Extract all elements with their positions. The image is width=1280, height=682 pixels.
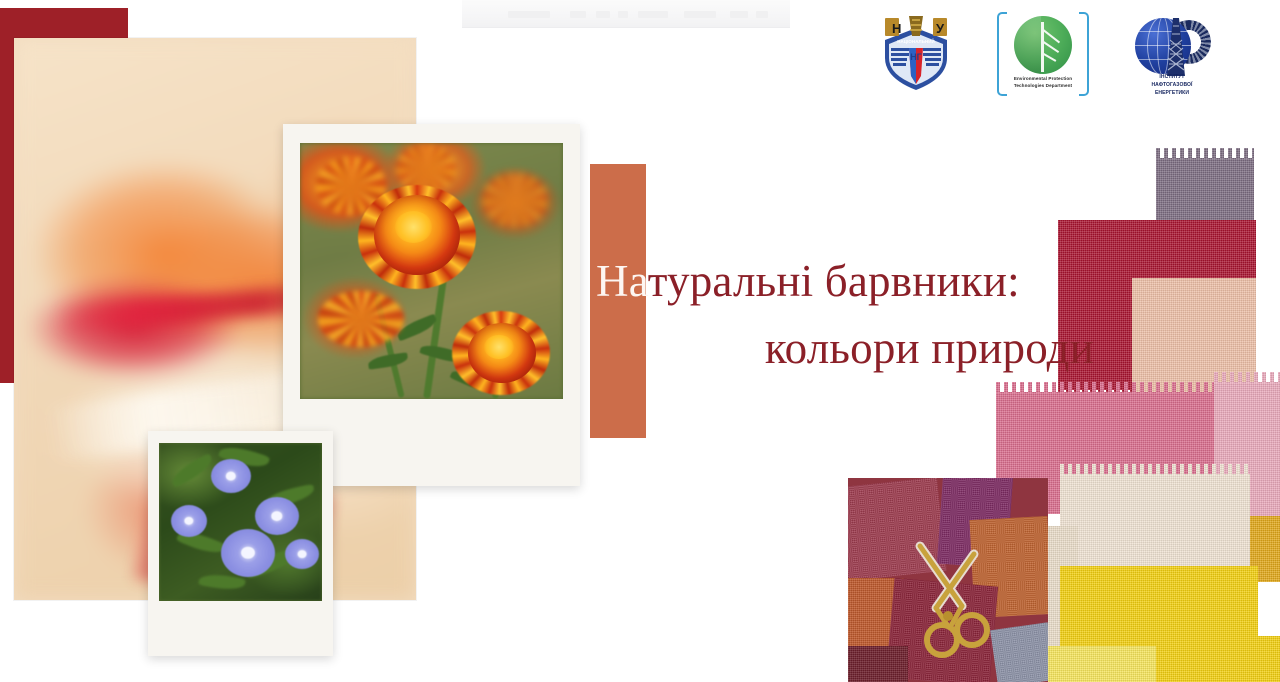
environmental-protection-technologies-department-logo: Environmental Protection Technologies De… bbox=[995, 8, 1091, 100]
fabric-swatch-maroon bbox=[848, 646, 908, 682]
slide-title-prefix: На bbox=[596, 256, 648, 306]
logo-caption-line-3: ЕНЕРГЕТИКИ bbox=[1129, 90, 1215, 98]
shield-icon: Н У НГ bbox=[879, 14, 953, 92]
slide-title: Натуральні барвники: кольори природи bbox=[560, 248, 1100, 381]
fabric-swatches-with-scissors bbox=[848, 478, 1048, 682]
scissors-icon bbox=[900, 540, 1010, 660]
periwinkle-photo-image bbox=[159, 443, 322, 601]
slide-title-line-1: Натуральні барвники: bbox=[560, 248, 1100, 315]
oil-and-gas-energy-institute-logo: ІНСТИТУТ НАФТОГАЗОВОЇ ЕНЕРГЕТИКИ bbox=[1129, 10, 1215, 98]
national-university-emblem: Н У НГ НАЦІОНАЛЬНИЙ bbox=[875, 10, 957, 98]
logo-caption-line-2: Technologies Department bbox=[995, 83, 1091, 90]
emblem-ribbon-text: НАЦІОНАЛЬНИЙ bbox=[875, 39, 957, 44]
svg-text:У: У bbox=[936, 21, 945, 36]
fabric-swatch-cream bbox=[1060, 474, 1250, 576]
fabric-swatch-yellow-lower bbox=[1156, 636, 1280, 682]
fabric-swatch-pale-yellow bbox=[1032, 646, 1160, 682]
marigold-photo-image bbox=[300, 143, 563, 399]
logo-caption-line-2: НАФТОГАЗОВОЇ bbox=[1129, 82, 1215, 90]
presentation-slide: Натуральні барвники: кольори природи bbox=[0, 0, 1280, 682]
leaf-circle-icon bbox=[1014, 16, 1072, 74]
oil-derrick-icon bbox=[1163, 16, 1189, 78]
faded-toolbar-strip bbox=[462, 0, 790, 28]
svg-text:НГ: НГ bbox=[910, 52, 922, 62]
logo-caption: ІНСТИТУТ НАФТОГАЗОВОЇ ЕНЕРГЕТИКИ bbox=[1129, 74, 1215, 97]
slide-title-rest: туральні барвники: bbox=[648, 256, 1020, 306]
logo-row: Н У НГ НАЦІОНАЛЬНИЙ Environmental Protec… bbox=[875, 6, 1225, 102]
periwinkle-flowers-photo bbox=[148, 431, 333, 656]
logo-caption-line-1: Environmental Protection bbox=[995, 76, 1091, 83]
logo-caption: Environmental Protection Technologies De… bbox=[995, 76, 1091, 90]
logo-caption-line-1: ІНСТИТУТ bbox=[1129, 74, 1215, 82]
slide-title-line-2: кольори природи bbox=[560, 315, 1100, 382]
svg-text:Н: Н bbox=[892, 21, 901, 36]
